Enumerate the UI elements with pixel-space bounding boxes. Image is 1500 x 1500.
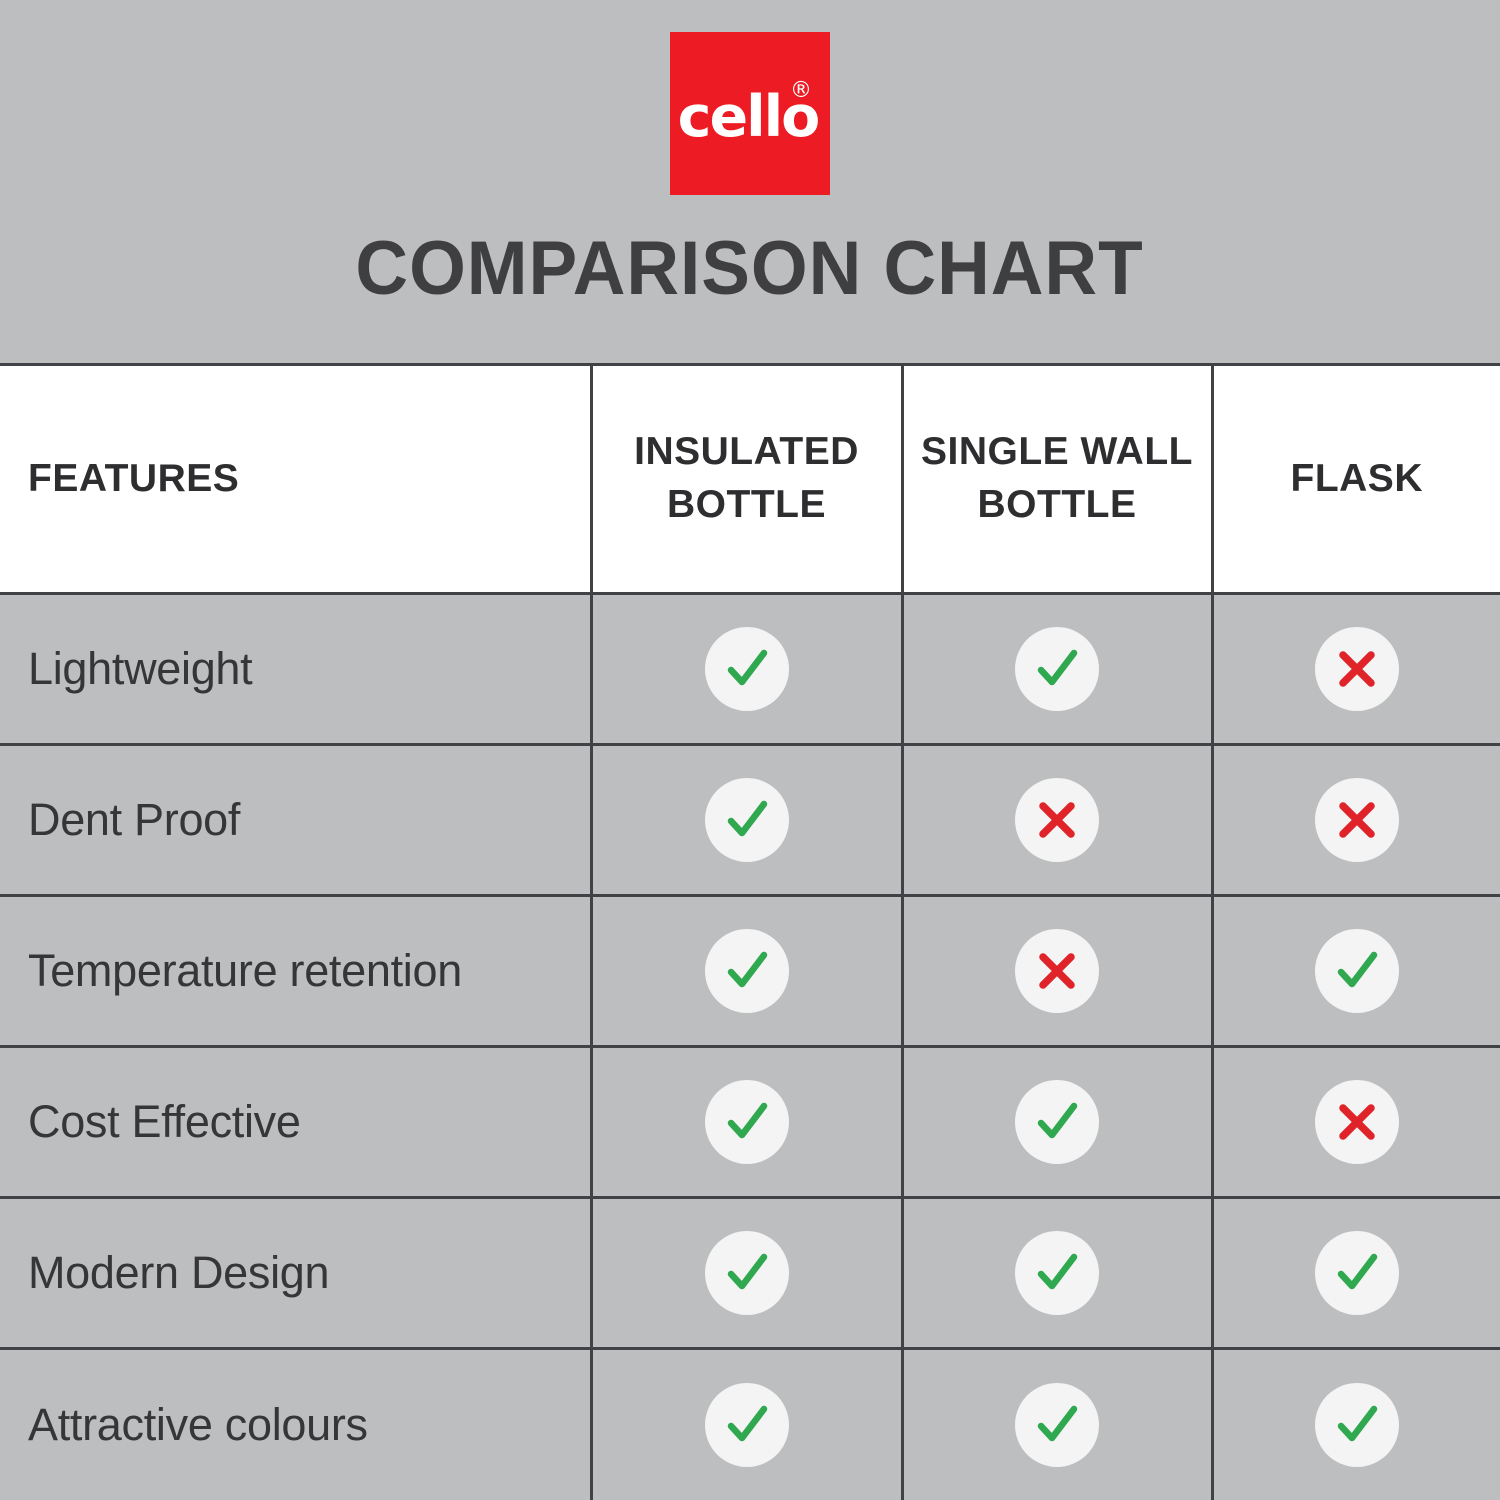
green-check-icon [705,1383,789,1467]
red-cross-icon [1015,929,1099,1013]
table-row: Temperature retention [0,896,1500,1047]
cello-logo: cello ® [670,32,830,195]
red-cross-icon [1015,778,1099,862]
green-check-icon [1015,1383,1099,1467]
feature-label-cell: Temperature retention [0,896,591,1047]
column-header-flask: FLASK [1212,365,1500,594]
cell-flask [1212,1198,1500,1349]
table-row: Lightweight [0,594,1500,745]
green-check-icon [705,929,789,1013]
cell-flask [1212,745,1500,896]
column-header-features: FEATURES [0,365,591,594]
column-header-insulated-bottle-line1: INSULATED [634,430,859,473]
cell-insulated-bottle [591,745,902,896]
table-head: FEATURES INSULATED BOTTLE SINGLE WALL BO… [0,365,1500,594]
red-cross-icon [1315,627,1399,711]
table-row: Cost Effective [0,1047,1500,1198]
table-row: Modern Design [0,1198,1500,1349]
green-check-icon [1015,627,1099,711]
cell-insulated-bottle [591,1047,902,1198]
feature-label-cell: Cost Effective [0,1047,591,1198]
cell-single-wall-bottle [902,896,1212,1047]
comparison-table: FEATURES INSULATED BOTTLE SINGLE WALL BO… [0,363,1500,1500]
cell-insulated-bottle [591,896,902,1047]
column-header-flask-label: FLASK [1291,457,1424,500]
cell-single-wall-bottle [902,1047,1212,1198]
cell-single-wall-bottle [902,745,1212,896]
feature-label-cell: Dent Proof [0,745,591,896]
green-check-icon [705,1231,789,1315]
cell-single-wall-bottle [902,594,1212,745]
feature-label-cell: Lightweight [0,594,591,745]
green-check-icon [705,627,789,711]
cell-insulated-bottle [591,594,902,745]
cell-insulated-bottle [591,1349,902,1500]
cell-flask [1212,896,1500,1047]
green-check-icon [1315,1383,1399,1467]
table-row: Attractive colours [0,1349,1500,1500]
cell-single-wall-bottle [902,1349,1212,1500]
table-body: LightweightDent ProofTemperature retenti… [0,594,1500,1500]
feature-label-cell: Attractive colours [0,1349,591,1500]
green-check-icon [1315,929,1399,1013]
page-title: COMPARISON CHART [356,231,1144,307]
green-check-icon [1015,1080,1099,1164]
red-cross-icon [1315,778,1399,862]
cell-insulated-bottle [591,1198,902,1349]
comparison-chart-page: cello ® COMPARISON CHART FEATURES INSULA… [0,0,1500,1500]
cell-flask [1212,1047,1500,1198]
cell-single-wall-bottle [902,1198,1212,1349]
green-check-icon [705,778,789,862]
column-header-single-wall-bottle: SINGLE WALL BOTTLE [902,365,1212,594]
green-check-icon [1015,1231,1099,1315]
table-header-row: FEATURES INSULATED BOTTLE SINGLE WALL BO… [0,365,1500,594]
green-check-icon [1315,1231,1399,1315]
registered-trademark-icon: ® [790,80,812,102]
cell-flask [1212,1349,1500,1500]
table-row: Dent Proof [0,745,1500,896]
column-header-insulated-bottle: INSULATED BOTTLE [591,365,902,594]
brand-header: cello ® COMPARISON CHART [0,0,1500,363]
column-header-single-wall-bottle-line1: SINGLE WALL [921,430,1193,473]
column-header-features-label: FEATURES [28,457,239,500]
column-header-insulated-bottle-line2: BOTTLE [667,483,826,526]
red-cross-icon [1315,1080,1399,1164]
green-check-icon [705,1080,789,1164]
column-header-single-wall-bottle-line2: BOTTLE [978,483,1137,526]
cell-flask [1212,594,1500,745]
feature-label-cell: Modern Design [0,1198,591,1349]
